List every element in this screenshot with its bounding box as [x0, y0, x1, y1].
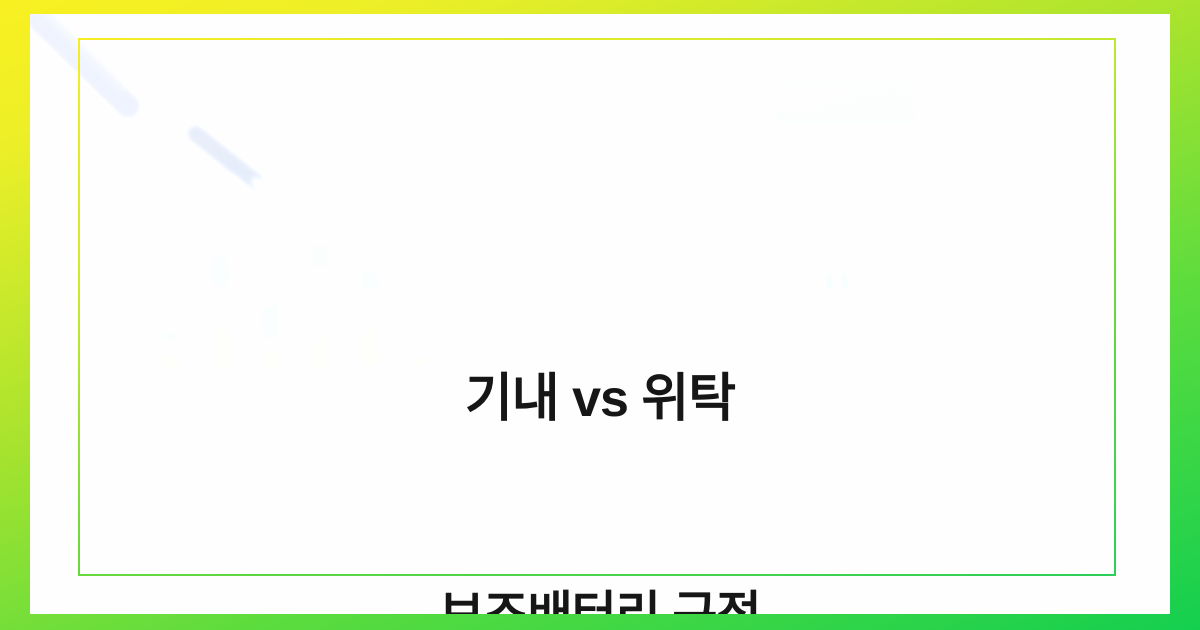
- white-mat: Chart comparison 100 75 50 25 0: [30, 14, 1170, 614]
- badge-line-1: SAMANTHA: [783, 88, 850, 99]
- name-badge: SAMANTHA BLACK: [771, 76, 921, 129]
- badge-line-2: BLACK: [783, 100, 824, 111]
- hand-with-pen: [30, 14, 430, 232]
- title-line-2: 보조배터리 규정: [30, 579, 1170, 614]
- title-line-1: 기내 vs 위탁: [30, 363, 1170, 435]
- page-title: 기내 vs 위탁 보조배터리 규정 헷갈리면 안돼요!: [30, 219, 1170, 614]
- promo-card: Chart comparison 100 75 50 25 0: [0, 0, 1200, 630]
